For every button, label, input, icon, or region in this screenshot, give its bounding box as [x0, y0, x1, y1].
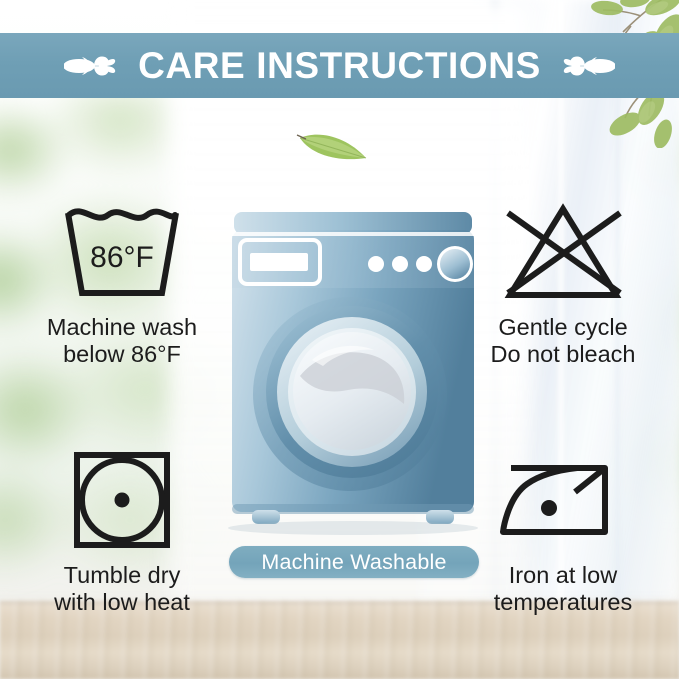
green-leaf-icon — [296, 122, 370, 162]
fleur-de-lis-icon — [64, 46, 116, 86]
care-symbol-tumble-dry: Tumble dry with low heat — [16, 444, 228, 617]
care-symbol-machine-wash: 86°F Machine wash below 86°F — [16, 196, 228, 369]
tumble-dry-icon-wrapper — [69, 444, 175, 556]
iron-icon — [497, 450, 629, 550]
care-symbol-iron-low: Iron at low temperatures — [454, 444, 672, 617]
machine-washable-badge: Machine Washable — [229, 546, 479, 578]
iron-icon-wrapper — [497, 444, 629, 556]
fleur-de-lis-icon — [563, 46, 615, 86]
care-symbol-caption: Gentle cycle Do not bleach — [490, 314, 635, 369]
washing-machine-illustration — [228, 208, 478, 538]
care-symbol-caption: Tumble dry with low heat — [54, 562, 190, 617]
page-title: CARE INSTRUCTIONS — [138, 47, 541, 84]
wash-tub-icon-wrapper: 86°F — [58, 196, 186, 308]
care-instructions-infographic: CARE INSTRUCTIONS — [0, 0, 679, 679]
wash-tub-icon: 86°F — [58, 199, 186, 305]
triangle-crossed-icon — [496, 199, 630, 305]
wash-temperature-value: 86°F — [90, 241, 154, 274]
care-symbol-caption: Machine wash below 86°F — [47, 314, 197, 369]
tumble-dry-icon — [69, 447, 175, 553]
care-symbol-caption: Iron at low temperatures — [494, 562, 632, 617]
triangle-crossed-icon-wrapper — [496, 196, 630, 308]
header-banner: CARE INSTRUCTIONS — [0, 33, 679, 98]
care-symbol-do-not-bleach: Gentle cycle Do not bleach — [454, 196, 672, 369]
badge-label: Machine Washable — [261, 550, 446, 575]
